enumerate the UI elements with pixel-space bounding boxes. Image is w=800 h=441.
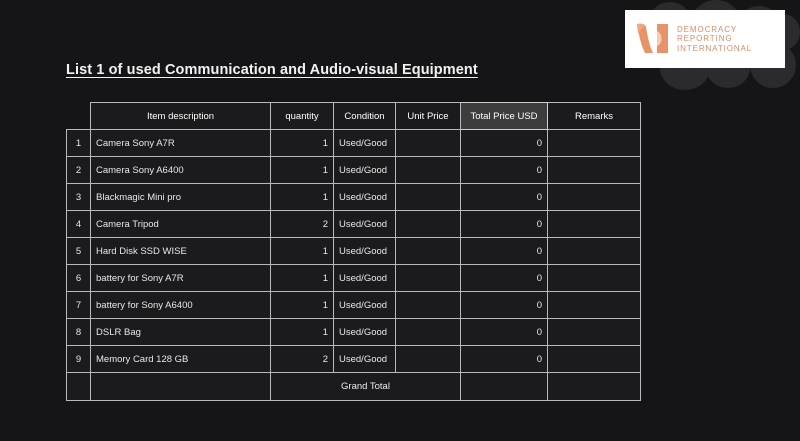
cell-remarks[interactable] xyxy=(548,265,641,292)
cell-remarks[interactable] xyxy=(548,130,641,157)
table-footer: Grand Total xyxy=(67,373,641,401)
cell-quantity[interactable]: 1 xyxy=(271,238,334,265)
cell-total-price[interactable]: 0 xyxy=(461,184,548,211)
cell-item-description[interactable]: battery for Sony A7R xyxy=(91,265,271,292)
cell-remarks[interactable] xyxy=(548,211,641,238)
grand-total-spacer-cell xyxy=(91,373,271,401)
cell-quantity[interactable]: 1 xyxy=(271,157,334,184)
cell-total-price[interactable]: 0 xyxy=(461,265,548,292)
column-header-condition[interactable]: Condition xyxy=(334,103,396,130)
cell-total-price[interactable]: 0 xyxy=(461,346,548,373)
cell-item-description[interactable]: Camera Sony A6400 xyxy=(91,157,271,184)
cell-remarks[interactable] xyxy=(548,238,641,265)
table-body: 1Camera Sony A7R1Used/Good02Camera Sony … xyxy=(67,130,641,373)
cell-condition[interactable]: Used/Good xyxy=(334,157,396,184)
cell-index: 9 xyxy=(67,346,91,373)
cell-index: 3 xyxy=(67,184,91,211)
cell-remarks[interactable] xyxy=(548,292,641,319)
column-header-index xyxy=(67,103,91,130)
cell-remarks[interactable] xyxy=(548,184,641,211)
cell-condition[interactable]: Used/Good xyxy=(334,319,396,346)
cell-index: 5 xyxy=(67,238,91,265)
equipment-table-container: Item description quantity Condition Unit… xyxy=(66,102,640,401)
cell-condition[interactable]: Used/Good xyxy=(334,292,396,319)
cell-index: 1 xyxy=(67,130,91,157)
cell-condition[interactable]: Used/Good xyxy=(334,346,396,373)
table-row: 7battery for Sony A64001Used/Good0 xyxy=(67,292,641,319)
cell-remarks[interactable] xyxy=(548,319,641,346)
slide-canvas: DEMOCRACY REPORTING INTERNATIONAL List 1… xyxy=(0,0,800,441)
logo-line-3: INTERNATIONAL xyxy=(677,44,752,53)
column-header-remarks[interactable]: Remarks xyxy=(548,103,641,130)
grand-total-value[interactable] xyxy=(461,373,548,401)
cell-unit-price[interactable] xyxy=(396,211,461,238)
cell-quantity[interactable]: 2 xyxy=(271,211,334,238)
cell-index: 6 xyxy=(67,265,91,292)
cell-total-price[interactable]: 0 xyxy=(461,130,548,157)
cell-condition[interactable]: Used/Good xyxy=(334,211,396,238)
cell-total-price[interactable]: 0 xyxy=(461,319,548,346)
grand-total-remarks-cell xyxy=(548,373,641,401)
cell-condition[interactable]: Used/Good xyxy=(334,130,396,157)
table-row: 4Camera Tripod2Used/Good0 xyxy=(67,211,641,238)
cell-condition[interactable]: Used/Good xyxy=(334,184,396,211)
organization-logo: DEMOCRACY REPORTING INTERNATIONAL xyxy=(625,10,785,68)
cell-index: 4 xyxy=(67,211,91,238)
cell-index: 2 xyxy=(67,157,91,184)
cell-unit-price[interactable] xyxy=(396,157,461,184)
table-row: 8DSLR Bag1Used/Good0 xyxy=(67,319,641,346)
logo-line-1: DEMOCRACY xyxy=(677,25,752,34)
equipment-table: Item description quantity Condition Unit… xyxy=(66,102,641,401)
logo-wordmark: DEMOCRACY REPORTING INTERNATIONAL xyxy=(677,25,752,53)
grand-total-index-cell xyxy=(67,373,91,401)
cell-remarks[interactable] xyxy=(548,157,641,184)
cell-unit-price[interactable] xyxy=(396,292,461,319)
cell-item-description[interactable]: DSLR Bag xyxy=(91,319,271,346)
cell-quantity[interactable]: 1 xyxy=(271,184,334,211)
logo-line-2: REPORTING xyxy=(677,34,752,43)
cell-quantity[interactable]: 1 xyxy=(271,130,334,157)
table-row: 6battery for Sony A7R1Used/Good0 xyxy=(67,265,641,292)
cell-index: 7 xyxy=(67,292,91,319)
cell-unit-price[interactable] xyxy=(396,184,461,211)
cell-item-description[interactable]: Hard Disk SSD WISE xyxy=(91,238,271,265)
cell-total-price[interactable]: 0 xyxy=(461,157,548,184)
cell-unit-price[interactable] xyxy=(396,346,461,373)
table-row: 1Camera Sony A7R1Used/Good0 xyxy=(67,130,641,157)
cell-quantity[interactable]: 1 xyxy=(271,265,334,292)
grand-total-row: Grand Total xyxy=(67,373,641,401)
column-header-unit-price[interactable]: Unit Price xyxy=(396,103,461,130)
cell-remarks[interactable] xyxy=(548,346,641,373)
grand-total-label: Grand Total xyxy=(271,373,461,401)
cell-unit-price[interactable] xyxy=(396,130,461,157)
table-row: 5Hard Disk SSD WISE1Used/Good0 xyxy=(67,238,641,265)
cell-total-price[interactable]: 0 xyxy=(461,211,548,238)
cell-item-description[interactable]: Camera Tripod xyxy=(91,211,271,238)
column-header-total-price[interactable]: Total Price USD xyxy=(461,103,548,130)
dri-logo-mark-icon xyxy=(633,19,671,59)
cell-condition[interactable]: Used/Good xyxy=(334,265,396,292)
table-header: Item description quantity Condition Unit… xyxy=(67,103,641,130)
cell-unit-price[interactable] xyxy=(396,319,461,346)
table-row: 3Blackmagic Mini pro1Used/Good0 xyxy=(67,184,641,211)
cell-total-price[interactable]: 0 xyxy=(461,238,548,265)
cell-quantity[interactable]: 2 xyxy=(271,346,334,373)
cell-index: 8 xyxy=(67,319,91,346)
cell-unit-price[interactable] xyxy=(396,238,461,265)
page-title: List 1 of used Communication and Audio-v… xyxy=(66,62,478,78)
cell-condition[interactable]: Used/Good xyxy=(334,238,396,265)
cell-item-description[interactable]: battery for Sony A6400 xyxy=(91,292,271,319)
table-row: 9Memory Card 128 GB2Used/Good0 xyxy=(67,346,641,373)
cell-total-price[interactable]: 0 xyxy=(461,292,548,319)
cell-item-description[interactable]: Memory Card 128 GB xyxy=(91,346,271,373)
column-header-item-description[interactable]: Item description xyxy=(91,103,271,130)
cell-quantity[interactable]: 1 xyxy=(271,319,334,346)
cell-item-description[interactable]: Camera Sony A7R xyxy=(91,130,271,157)
column-header-quantity[interactable]: quantity xyxy=(271,103,334,130)
cell-unit-price[interactable] xyxy=(396,265,461,292)
table-row: 2Camera Sony A64001Used/Good0 xyxy=(67,157,641,184)
cell-quantity[interactable]: 1 xyxy=(271,292,334,319)
cell-item-description[interactable]: Blackmagic Mini pro xyxy=(91,184,271,211)
table-header-row: Item description quantity Condition Unit… xyxy=(67,103,641,130)
